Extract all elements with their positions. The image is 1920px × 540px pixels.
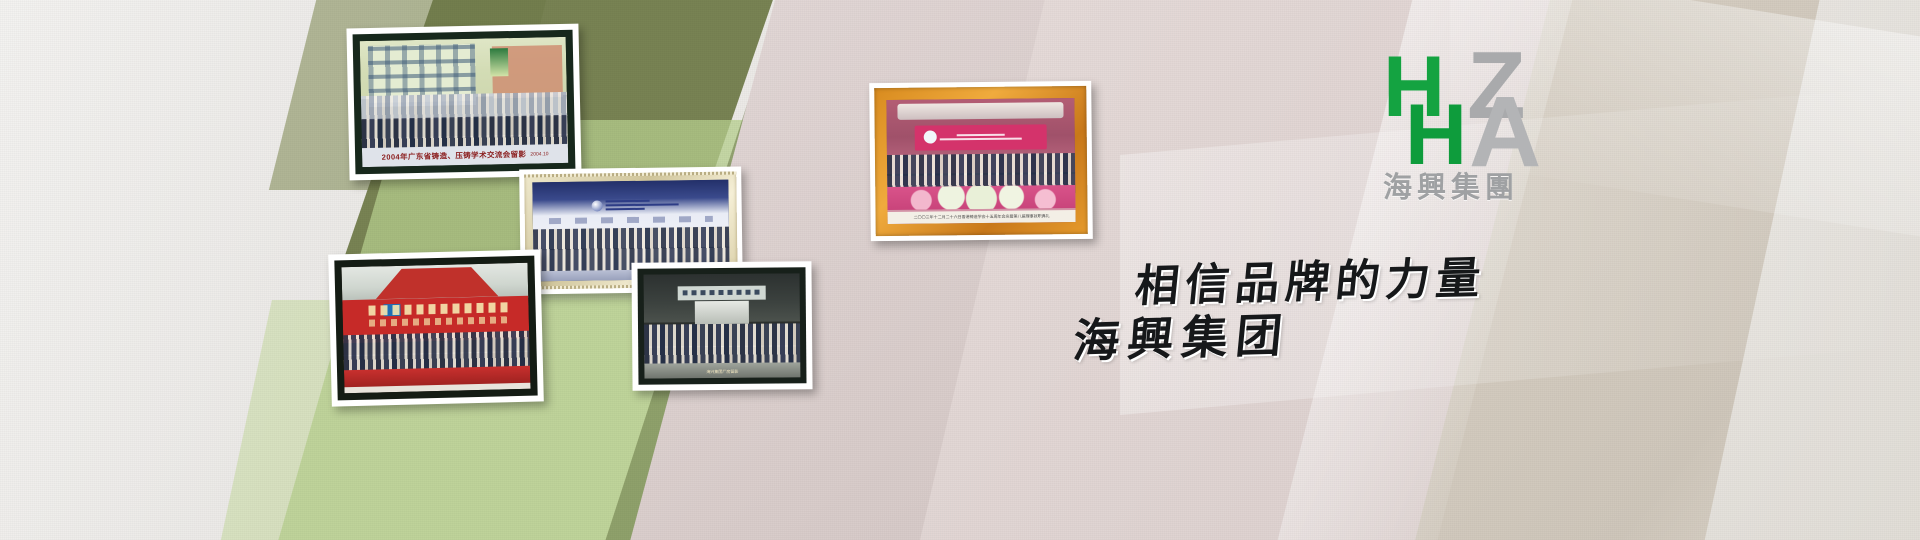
photo-award-banner	[591, 200, 681, 211]
slogan-line-2: 海興集团	[1071, 299, 1294, 371]
photo-ceiling	[898, 102, 1064, 120]
photo-frame-2004-conference: 2004年广东省铸造、压铸学术交流会留影 2004.10	[346, 24, 581, 181]
photo-caption-text: 2004年广东省铸造、压铸学术交流会留影	[382, 149, 527, 163]
photo-image	[341, 263, 530, 394]
globe-icon	[591, 201, 602, 212]
photo-caption-text: 二〇〇三年十二月二十六日香港铸造学会十五周年会庆暨第八届理事就职典礼	[914, 213, 1050, 220]
photo-caption: 海兴集团厂房留影	[644, 367, 800, 377]
photo-caption: 二〇〇三年十二月二十六日香港铸造学会十五周年会庆暨第八届理事就职典礼	[888, 210, 1076, 224]
photo-floral-arrangement	[887, 185, 1075, 211]
photo-flag	[490, 48, 509, 76]
company-logo[interactable]: Z A H H 海興集團	[1383, 48, 1563, 208]
brand-banner: 2004年广东省铸造、压铸学术交流会留影 2004.10	[0, 0, 1920, 540]
logo-chinese-name: 海興集團	[1383, 164, 1563, 206]
photo-frame-factory-entrance: 海兴集团厂房留影	[631, 261, 812, 391]
photo-award-text	[605, 199, 681, 212]
photo-frame-ceremony: 二〇〇三年十二月二十六日香港铸造学会十五周年会庆暨第八届理事就职典礼	[869, 81, 1093, 241]
photo-crowd-row	[644, 323, 800, 347]
photo-signboard-text	[683, 289, 761, 295]
photo-entrance-door	[695, 301, 748, 324]
photo-caption-date: 2004.10	[530, 151, 548, 157]
photo-image: 二〇〇三年十二月二十六日香港铸造学会十五周年会庆暨第八届理事就职典礼	[886, 98, 1075, 224]
photo-frame-2014-assembly	[328, 249, 544, 406]
photo-image: 2004年广东省铸造、压铸学术交流会留影 2004.10	[360, 37, 569, 167]
logo-letter-marks: Z A H H	[1383, 48, 1563, 160]
photo-image: 海兴集团厂房留影	[644, 273, 801, 378]
photo-caption-text: 海兴集团厂房留影	[706, 369, 738, 375]
association-emblem-icon	[922, 129, 937, 144]
brand-slogan: 相信品牌的力量 海興集团	[1060, 246, 1480, 396]
